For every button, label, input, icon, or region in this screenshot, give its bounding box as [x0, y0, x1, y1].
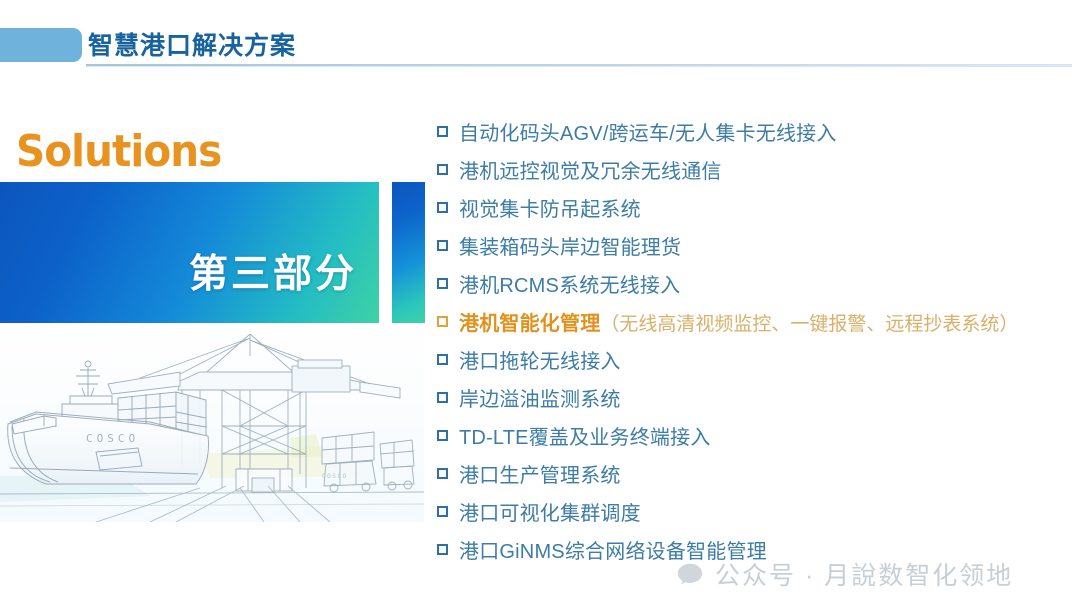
- bullet-square-icon: [437, 126, 448, 137]
- list-item-label: 岸边溢油监测系统: [459, 383, 621, 412]
- list-item[interactable]: 港口生产管理系统: [437, 454, 1077, 492]
- list-item-label: 港机远控视觉及冗余无线通信: [459, 155, 722, 184]
- watermark-label: 公众号 · 月說数智化领地: [715, 556, 1013, 592]
- list-item[interactable]: 自动化码头AGV/跨运车/无人集卡无线接入: [437, 112, 1077, 150]
- bullet-square-icon: [437, 506, 448, 517]
- bullet-square-icon: [437, 468, 448, 479]
- port-container-ship-sketch: COSCO COSCO: [0, 326, 424, 522]
- slide-header: 智慧港口解决方案: [0, 0, 1080, 78]
- wechat-icon: [676, 559, 706, 589]
- list-item[interactable]: 港机远控视觉及冗余无线通信: [437, 150, 1077, 188]
- list-item-label: TD-LTE覆盖及业务终端接入: [459, 421, 711, 450]
- list-item[interactable]: 集装箱码头岸边智能理货: [437, 226, 1077, 264]
- page-title: 智慧港口解决方案: [88, 26, 296, 62]
- header-tab-block: [0, 28, 82, 62]
- bullet-square-icon: [437, 316, 448, 327]
- bullet-square-icon: [437, 202, 448, 213]
- bullet-square-icon: [437, 544, 448, 555]
- bullet-square-icon: [437, 278, 448, 289]
- list-item-label: 自动化码头AGV/跨运车/无人集卡无线接入: [459, 117, 837, 146]
- list-item[interactable]: 港口拖轮无线接入: [437, 340, 1077, 378]
- bullet-square-icon: [437, 430, 448, 441]
- list-item-label: 视觉集卡防吊起系统: [459, 193, 641, 222]
- list-item[interactable]: 港口可视化集群调度: [437, 492, 1077, 530]
- list-item[interactable]: 港机RCMS系统无线接入: [437, 264, 1077, 302]
- slide-canvas: 智慧港口解决方案 Solutions 第三部分: [0, 0, 1080, 608]
- section-number-label: 第三部分: [189, 243, 357, 299]
- svg-text:COSCO: COSCO: [322, 473, 348, 480]
- section-accent-strip: [392, 182, 425, 323]
- solutions-heading: Solutions: [16, 126, 221, 177]
- list-item[interactable]: TD-LTE覆盖及业务终端接入: [437, 416, 1077, 454]
- list-item-label: 港口拖轮无线接入: [459, 345, 621, 374]
- list-item-label-main: 港机智能化管理: [459, 313, 600, 335]
- header-divider-shadow: [86, 66, 1072, 67]
- list-item-label: 港口生产管理系统: [459, 459, 621, 488]
- section-number-panel: 第三部分: [0, 182, 379, 323]
- solution-feature-list: 自动化码头AGV/跨运车/无人集卡无线接入 港机远控视觉及冗余无线通信 视觉集卡…: [437, 112, 1077, 568]
- bullet-square-icon: [437, 354, 448, 365]
- list-item-label: 集装箱码头岸边智能理货: [459, 231, 681, 260]
- list-item-label: 港口可视化集群调度: [459, 497, 641, 526]
- bullet-square-icon: [437, 392, 448, 403]
- svg-text:COSCO: COSCO: [86, 432, 139, 445]
- watermark: 公众号 · 月說数智化领地: [676, 556, 1013, 592]
- list-item-note: （无线高清视频监控、一键报警、远程抄表系统）: [600, 313, 1018, 335]
- bullet-square-icon: [437, 164, 448, 175]
- list-item-highlighted[interactable]: 港机智能化管理（无线高清视频监控、一键报警、远程抄表系统）: [437, 302, 1077, 340]
- list-item-label: 港机智能化管理（无线高清视频监控、一键报警、远程抄表系统）: [459, 307, 1018, 336]
- bullet-square-icon: [437, 240, 448, 251]
- list-item[interactable]: 视觉集卡防吊起系统: [437, 188, 1077, 226]
- list-item-label: 港机RCMS系统无线接入: [459, 269, 680, 298]
- list-item[interactable]: 岸边溢油监测系统: [437, 378, 1077, 416]
